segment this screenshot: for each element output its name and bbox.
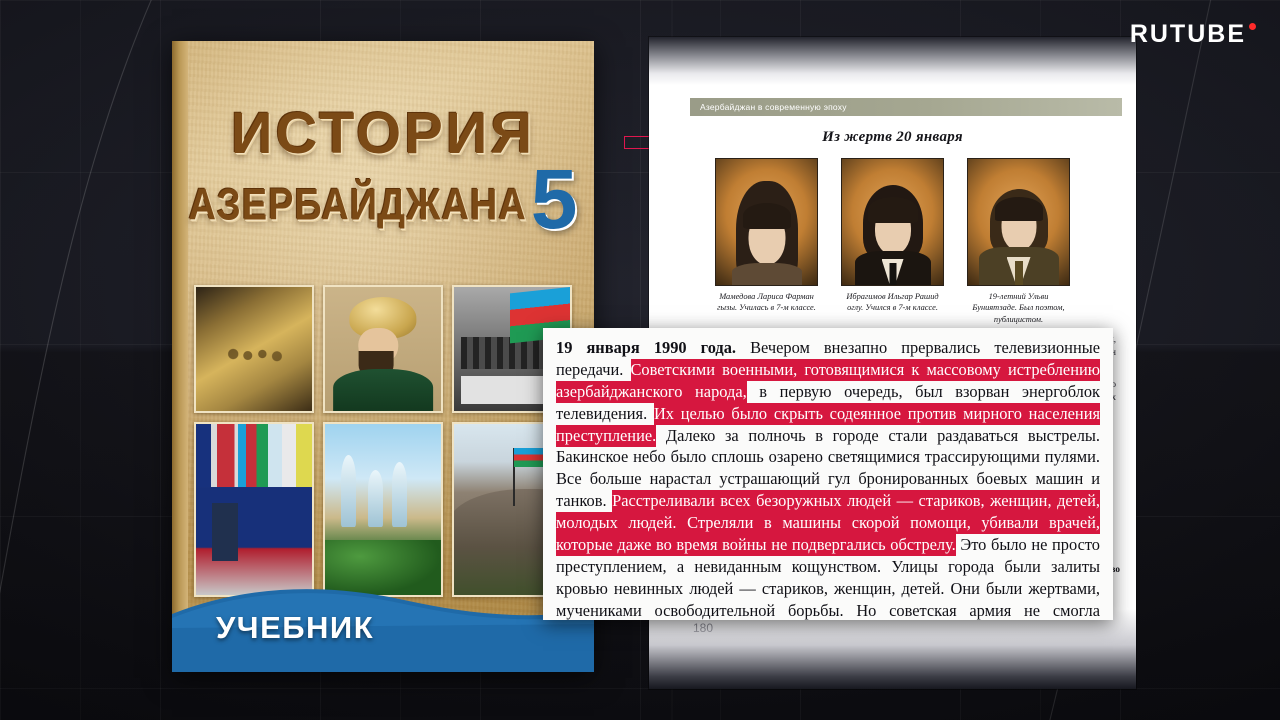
petroglyph-rock-photo: [194, 285, 314, 413]
quote-overlay-panel: 19 января 1990 года. Вечером внезапно пр…: [543, 328, 1113, 620]
victim-portrait-2-photo: [841, 158, 944, 286]
shah-portrait-photo: [323, 285, 443, 413]
rutube-wordmark: RUTUBE: [1130, 22, 1246, 47]
victim-portrait-3: 19-летний Ульви Буниятзаде. Был поэтом, …: [967, 158, 1070, 325]
victim-portrait-3-photo: [967, 158, 1070, 286]
victim-portrait-1-caption: Мамедова Лариса Фарман гызы. Училась в 7…: [715, 291, 818, 314]
victim-portrait-1-photo: [715, 158, 818, 286]
quote-lead-date: 19 января 1990 года.: [556, 338, 736, 357]
victim-portrait-2: Ибрагимов Ильгар Рашид оглу. Учился в 7-…: [841, 158, 944, 325]
rutube-watermark: RUTUBE: [1130, 22, 1256, 47]
running-head-banner: Азербайджан в современную эпоху: [690, 98, 1122, 116]
quote-overlay-text: 19 января 1990 года. Вечером внезапно пр…: [556, 337, 1100, 620]
victim-portraits-row: Мамедова Лариса Фарман гызы. Училась в 7…: [649, 158, 1136, 325]
red-rectangle-marker-icon: [624, 136, 650, 149]
book-grade-number: 5: [531, 167, 578, 233]
victim-portrait-1: Мамедова Лариса Фарман гызы. Училась в 7…: [715, 158, 818, 325]
page-section-title: Из жертв 20 января: [649, 129, 1136, 146]
baku-flame-towers-photo: [323, 422, 443, 597]
book-subtitle-row: АЗЕРБАЙДЖАНА 5: [172, 183, 594, 233]
international-conference-photo: [194, 422, 314, 597]
page-number: 180: [693, 621, 713, 635]
victim-portrait-3-caption: 19-летний Ульви Буниятзаде. Был поэтом, …: [967, 291, 1070, 325]
video-frame: RUTUBE Азербайджан в современную эпоху И…: [0, 0, 1280, 720]
cover-band-label: УЧЕБНИК: [216, 610, 374, 646]
book-cover: ИСТОРИЯ АЗЕРБАЙДЖАНА 5: [172, 41, 594, 672]
cover-photo-grid: [194, 285, 572, 597]
red-dot-icon: [1249, 23, 1256, 30]
victim-portrait-2-caption: Ибрагимов Ильгар Рашид оглу. Учился в 7-…: [841, 291, 944, 314]
book-subtitle: АЗЕРБАЙДЖАНА: [188, 183, 526, 228]
